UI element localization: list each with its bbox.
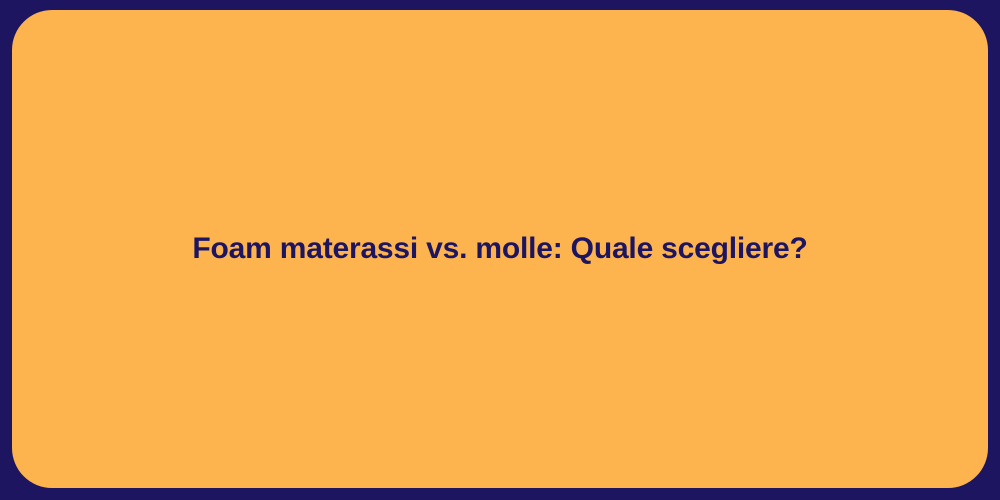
banner-title: Foam materassi vs. molle: Quale sceglier… <box>168 230 831 268</box>
banner-frame: Foam materassi vs. molle: Quale sceglier… <box>0 0 1000 500</box>
banner-card: Foam materassi vs. molle: Quale sceglier… <box>12 10 988 488</box>
